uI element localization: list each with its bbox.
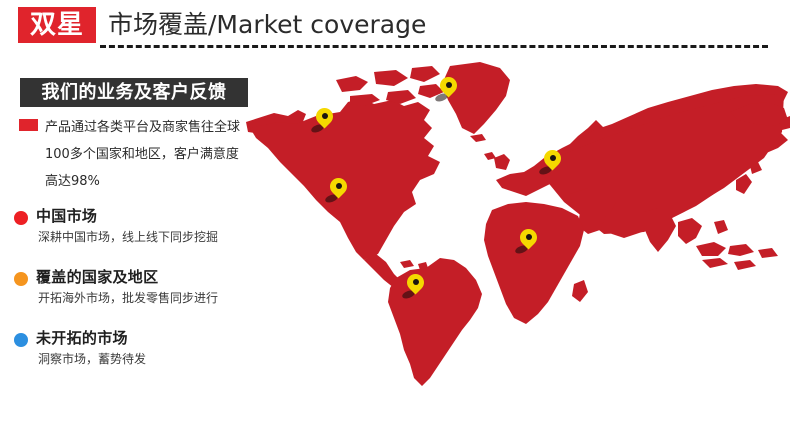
intro-text: 产品通过各类平台及商家售往全球100多个国家和地区，客户满意度高达98%: [19, 114, 251, 195]
legend-description: 深耕中国市场，线上线下同步挖掘: [14, 229, 264, 246]
page-header: 双星 市场覆盖/Market coverage: [0, 0, 790, 56]
pin-europe[interactable]: [544, 150, 564, 178]
world-map: [244, 62, 790, 392]
pin-center-dot: [526, 234, 532, 240]
red-dot-icon: [14, 211, 28, 225]
pin-center-dot: [322, 113, 328, 119]
legend-item-china[interactable]: 中国市场 深耕中国市场，线上线下同步挖掘: [14, 206, 264, 246]
pin-brazil[interactable]: [407, 274, 427, 302]
pin-center-dot: [336, 183, 342, 189]
pin-greenland[interactable]: [440, 77, 460, 105]
intro-block: 产品通过各类平台及商家售往全球100多个国家和地区，客户满意度高达98%: [19, 114, 251, 195]
section-heading: 我们的业务及客户反馈: [20, 78, 248, 107]
page-title: 市场覆盖/Market coverage: [108, 8, 426, 42]
red-square-bullet-icon: [19, 119, 38, 131]
legend-description: 洞察市场，蓄势待发: [14, 351, 264, 368]
legend-description: 开拓海外市场，批发零售同步进行: [14, 290, 264, 307]
pin-center-dot: [413, 279, 419, 285]
legend-title: 覆盖的国家及地区: [14, 267, 264, 287]
dashed-divider-icon: [100, 45, 768, 48]
pin-canada[interactable]: [316, 108, 336, 136]
pin-center-dot: [446, 82, 452, 88]
legend-title: 未开拓的市场: [14, 328, 264, 348]
pin-center-dot: [550, 155, 556, 161]
pin-united-states[interactable]: [330, 178, 350, 206]
orange-dot-icon: [14, 272, 28, 286]
blue-dot-icon: [14, 333, 28, 347]
legend-item-untapped-markets[interactable]: 未开拓的市场 洞察市场，蓄势待发: [14, 328, 264, 368]
brand-logo: 双星: [18, 7, 96, 43]
legend-item-covered-regions[interactable]: 覆盖的国家及地区 开拓海外市场，批发零售同步进行: [14, 267, 264, 307]
pin-africa[interactable]: [520, 229, 540, 257]
legend-title: 中国市场: [14, 206, 264, 226]
info-panel: 我们的业务及客户反馈 产品通过各类平台及商家售往全球100多个国家和地区，客户满…: [0, 60, 250, 400]
